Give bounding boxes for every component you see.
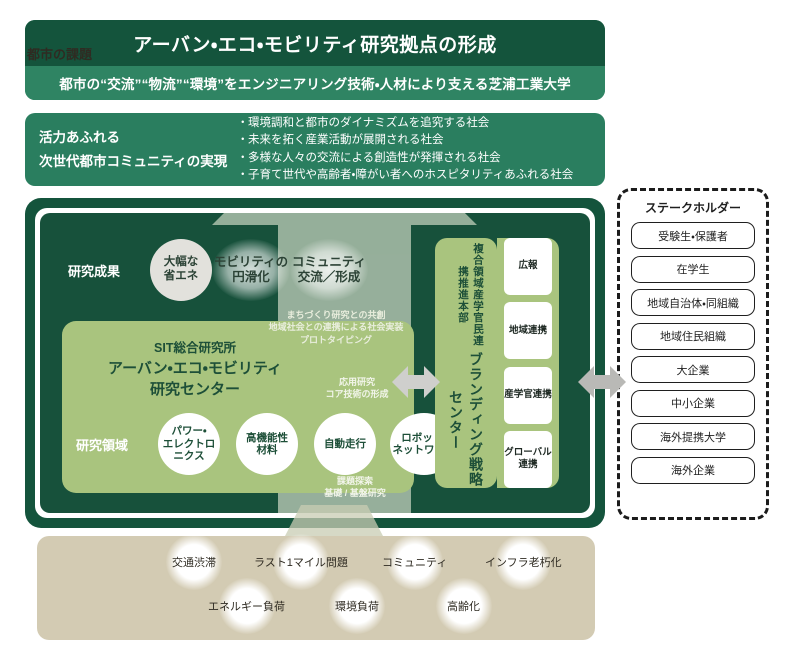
research-center-box: SIT総合研究所 アーバン・エコ・モビリティ 研究センター 研究領域 パワー・ … [62,321,414,493]
domain-text-line3: ニクス [173,450,204,462]
stakeholder-item: 海外提携大学 [631,423,755,450]
vision-bullets: 環境調和と都市のダイナミズムを追究する社会 未来を拓く産業活動が展開される社会 … [239,115,591,185]
page-subtitle: 都市の“交流”“物流”“環境”をエンジニアリング技術・人材により支える芝浦工業大… [25,66,605,100]
center-title-line2: アーバン・エコ・モビリティ [70,358,320,379]
vision-heading-line2: 次世代都市コミュニティの実現 [39,150,239,174]
stakeholder-item: 地域自治体・同組織 [631,289,755,316]
domain-text-line2: エレクトロ [163,438,216,450]
title-banner: アーバン・エコ・モビリティ研究拠点の形成 都市の“交流”“物流”“環境”をエンジ… [25,20,605,100]
list-item: 環境調和と都市のダイナミズムを追究する社会 [239,115,591,132]
double-arrow-horizontal-icon [392,358,440,406]
issue-blob: 高齢化 [447,598,480,614]
research-domains-label: 研究領域 [62,435,158,454]
research-results-row: 研究成果 大幅な 省エネ モビリティの 円滑化 [40,231,445,309]
domain-text-line1: 高機能性 [246,432,288,444]
center-title-line1: SIT総合研究所 [70,339,320,358]
page-title: アーバン・エコ・モビリティ研究拠点の形成 [25,20,605,66]
result-text-line1: 大幅な [164,256,199,268]
double-arrow-horizontal-icon [578,358,626,406]
stakeholder-item: 海外企業 [631,457,755,484]
function-label-line1: グローバル [504,447,551,458]
research-results-label: 研究成果 [40,261,150,280]
issue-blob: 環境負荷 [335,598,379,614]
diagram-canvas: アーバン・エコ・モビリティ研究拠点の形成 都市の“交流”“物流”“環境”をエンジ… [0,0,785,664]
function-label: 産学官連携 [504,389,552,401]
branding-function-pr: 広報 [504,238,552,295]
list-item: 未来を拓く産業活動が展開される社会 [239,132,591,149]
vision-heading-line1: 活力あふれる [39,126,239,150]
issue-blob: ラスト1マイル問題 [254,554,348,570]
result-circle-community: コミュニティ 交流／形成 [290,239,368,301]
issue-blob: インフラ老朽化 [485,554,562,570]
branding-vertical-text: ブランディング戦略センター 複合領域産学官民連携推進本部 [446,238,486,488]
caption-line: まちづくり研究との共創 [236,309,436,321]
result-text-line2: 円滑化 [232,270,270,284]
list-item: 子育て世代や高齢者・障がい者へのホスピタリティあふれる社会 [239,167,591,184]
stakeholder-item: 地域住民組織 [631,323,755,350]
branding-function-global: グローバル 連携 [504,431,552,488]
domain-text-line1: パワー・ [171,425,206,437]
stakeholder-item: 受験生・保護者 [631,222,755,249]
center-title-line3: 研究センター [70,379,320,400]
issue-blob: コミュニティ [382,554,447,570]
branding-function-regional: 地域連携 [504,302,552,359]
stakeholders-panel: ステークホルダー 受験生・保護者 在学生 地域自治体・同組織 地域住民組織 大企… [617,188,769,520]
urban-issues-label: 都市の課題 [27,44,92,63]
domain-circle-power-electronics: パワー・ エレクトロ ニクス [158,413,220,475]
result-text-line2: 省エネ [164,270,199,282]
stakeholder-item: 大企業 [631,356,755,383]
result-circle-energy: 大幅な 省エネ [150,239,212,301]
issue-blob: 交通渋滞 [172,554,216,570]
research-domains-row: 研究領域 パワー・ エレクトロ ニクス 高機能性 [62,411,414,477]
stakeholder-item: 中小企業 [631,390,755,417]
issue-blob: エネルギー負荷 [208,598,285,614]
function-label: 広報 [518,260,537,272]
result-text-line1: コミュニティ [292,255,366,269]
list-item: 多様な人々の交流による創造性が発揮される社会 [239,150,591,167]
stakeholder-item: 在学生 [631,256,755,283]
branding-strategy-center: ブランディング戦略センター 複合領域産学官民連携推進本部 [435,238,497,488]
vision-heading: 活力あふれる 次世代都市コミュニティの実現 [39,126,239,173]
domain-circle-materials: 高機能性 材料 [236,413,298,475]
stakeholders-title: ステークホルダー [631,199,755,216]
domain-text-line2: 材料 [257,444,278,456]
branding-functions-list: 広報 地域連携 産学官連携 グローバル 連携 [504,238,552,488]
research-center-title: SIT総合研究所 アーバン・エコ・モビリティ 研究センター [70,339,320,400]
vision-banner: 活力あふれる 次世代都市コミュニティの実現 環境調和と都市のダイナミズムを追究す… [25,113,605,186]
branding-function-industry-academia: 産学官連携 [504,367,552,424]
function-label-line2: 連携 [518,459,537,470]
branding-org: 複合領域産学官民連携推進本部 [446,238,486,351]
result-text-line1: モビリティの [214,255,288,269]
domain-circle-autonomous-driving: 自動走行 [314,413,376,475]
function-label: 地域連携 [509,325,547,337]
result-text-line2: 交流／形成 [298,270,361,284]
domain-text-line1: 自動走行 [324,438,366,450]
result-circle-mobility: モビリティの 円滑化 [212,239,290,301]
branding-name: ブランディング戦略センター [446,352,486,488]
